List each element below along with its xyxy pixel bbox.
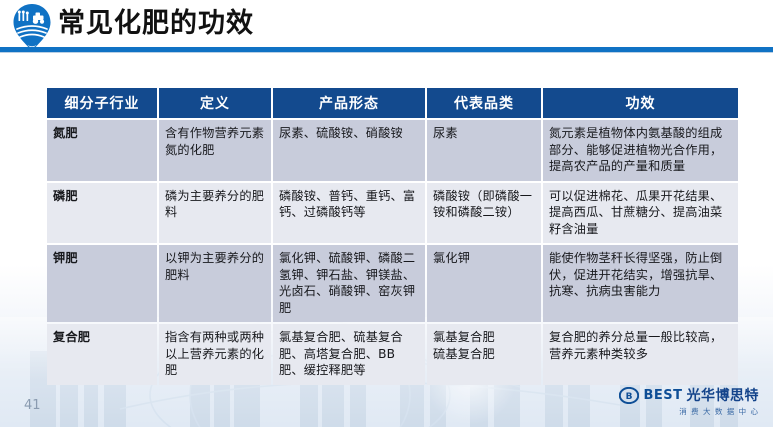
- table-row: 氮肥 含有作物营养元素氮的化肥 尿素、硫酸铵、硝酸铵 尿素 氮元素是植物体内氨基…: [47, 120, 738, 181]
- cell-effect: 能使作物茎秆长得坚强，防止倒伏，促进开花结实，增强抗旱、抗寒、抗病虫害能力: [543, 245, 738, 322]
- column-header-effect: 功效: [543, 88, 738, 118]
- cell-definition: 指含有两种或两种以上营养元素的化肥: [159, 324, 271, 385]
- cell-category: 磷肥: [47, 183, 157, 244]
- column-header-product-form: 产品形态: [273, 88, 425, 118]
- table-row: 复合肥 指含有两种或两种以上营养元素的化肥 氯基复合肥、硫基复合肥、高塔复合肥、…: [47, 324, 738, 385]
- agriculture-map-pin-icon: [7, 2, 57, 52]
- cell-category: 钾肥: [47, 245, 157, 322]
- page-title: 常见化肥的功效: [58, 7, 254, 41]
- cell-forms: 尿素、硫酸铵、硝酸铵: [273, 120, 425, 181]
- cell-representative: 氯基复合肥 硫基复合肥: [427, 324, 541, 385]
- page-number: 41: [24, 398, 41, 413]
- table-row: 钾肥 以钾为主要养分的肥料 氯化钾、硫酸钾、磷酸二氢钾、钾石盐、钾镁盐、光卤石、…: [47, 245, 738, 322]
- cell-effect: 氮元素是植物体内氨基酸的组成部分、能够促进植物光合作用，提高农产品的产量和质量: [543, 120, 738, 181]
- best-logo-mark-icon: B: [619, 387, 639, 404]
- cell-category: 氮肥: [47, 120, 157, 181]
- logo-company-name: 光华博思特: [687, 385, 760, 405]
- cell-definition: 含有作物营养元素氮的化肥: [159, 120, 271, 181]
- svg-text:B: B: [626, 392, 633, 402]
- column-header-representative: 代表品类: [427, 88, 541, 118]
- cell-effect: 可以促进棉花、瓜果开花结果、提高西瓜、甘蔗糖分、提高油菜籽含油量: [543, 183, 738, 244]
- column-header-definition: 定义: [159, 88, 271, 118]
- fertilizer-table-container: 细分子行业 定义 产品形态 代表品类 功效 氮肥 含有作物营养元素氮的化肥 尿素…: [45, 86, 738, 387]
- slide-root: 41 常: [0, 0, 773, 427]
- cell-forms: 磷酸铵、普钙、重钙、富钙、过磷酸钙等: [273, 183, 425, 244]
- logo-mark-text: BEST: [643, 388, 682, 403]
- cell-representative: 尿素: [427, 120, 541, 181]
- cell-effect: 复合肥的养分总量一般比较高，营养元素种类较多: [543, 324, 738, 385]
- cell-definition: 以钾为主要养分的肥料: [159, 245, 271, 322]
- cell-forms: 氯基复合肥、硫基复合肥、高塔复合肥、BB肥、缓控释肥等: [273, 324, 425, 385]
- header-accent-underline: [0, 52, 773, 53]
- logo-subtitle: 消 费 大 数 据 中 心: [679, 406, 759, 417]
- cell-forms: 氯化钾、硫酸钾、磷酸二氢钾、钾石盐、钾镁盐、光卤石、硝酸钾、窑灰钾肥: [273, 245, 425, 322]
- slide-header: 常见化肥的功效: [0, 0, 773, 54]
- table-row: 磷肥 磷为主要养分的肥料 磷酸铵、普钙、重钙、富钙、过磷酸钙等 磷酸铵（即磷酸一…: [47, 183, 738, 244]
- cell-representative: 磷酸铵（即磷酸一铵和磷酸二铵）: [427, 183, 541, 244]
- cell-category: 复合肥: [47, 324, 157, 385]
- cell-definition: 磷为主要养分的肥料: [159, 183, 271, 244]
- column-header-segment: 细分子行业: [47, 88, 157, 118]
- fertilizer-table: 细分子行业 定义 产品形态 代表品类 功效 氮肥 含有作物营养元素氮的化肥 尿素…: [45, 86, 740, 387]
- brand-logo: B BEST 光华博思特 消 费 大 数 据 中 心: [619, 385, 759, 417]
- table-header-row: 细分子行业 定义 产品形态 代表品类 功效: [47, 88, 738, 118]
- cell-representative: 氯化钾: [427, 245, 541, 322]
